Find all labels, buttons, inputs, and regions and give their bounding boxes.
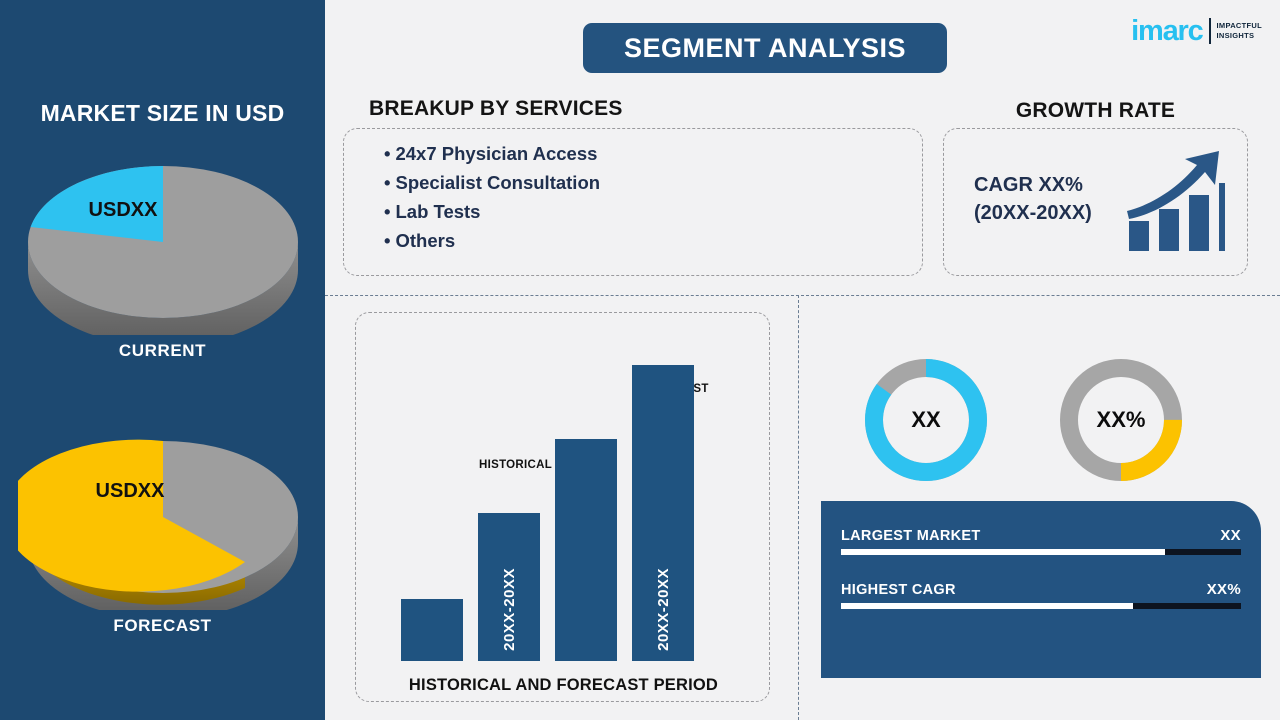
sidebar-title: MARKET SIZE IN USD <box>0 100 325 127</box>
chart-bar-label: 20XX-20XX <box>655 568 672 651</box>
stat-value: XX% <box>1207 581 1241 598</box>
key-stats-panel: LARGEST MARKET XX HIGHEST CAGR XX% <box>821 501 1261 678</box>
chart-bar: 20XX-20XX <box>632 365 694 661</box>
pie-current-svg: USDXX <box>18 150 308 335</box>
horizontal-divider <box>325 295 1280 296</box>
logo-tagline: IMPACTFUL INSIGHTS <box>1217 21 1262 41</box>
pie-current-slice-label: USDXX <box>88 199 158 221</box>
chart-bar <box>401 599 463 661</box>
page-title-badge: SEGMENT ANALYSIS <box>583 23 947 73</box>
cagr-text: CAGR XX% (20XX-20XX) <box>974 171 1092 227</box>
stat-label: HIGHEST CAGR <box>841 582 956 598</box>
chart-bar <box>555 439 617 661</box>
stat-progress-track <box>841 603 1241 609</box>
historical-forecast-chart: HISTORICAL 20XX-20XX FORECAST 20XX-20XX … <box>355 312 770 702</box>
growth-arrow-bars-icon <box>1115 145 1227 257</box>
list-item: •Others <box>384 226 600 255</box>
cagr-value: CAGR XX% <box>974 171 1092 199</box>
bullet-icon: • <box>384 201 390 222</box>
chart-bar: 20XX-20XX <box>478 513 540 661</box>
list-item: •Specialist Consultation <box>384 168 600 197</box>
infographic-root: MARKET SIZE IN USD USDXX CURRENT <box>0 0 1280 720</box>
logo-tagline-line1: IMPACTFUL <box>1217 21 1262 31</box>
stat-highest-cagr: HIGHEST CAGR XX% <box>841 581 1241 609</box>
chart-plot-area: HISTORICAL 20XX-20XX FORECAST 20XX-20XX … <box>356 313 771 703</box>
pie-forecast-caption: FORECAST <box>0 616 325 636</box>
service-label: 24x7 Physician Access <box>395 143 597 164</box>
logo-tagline-line2: INSIGHTS <box>1217 31 1262 41</box>
list-item: •Lab Tests <box>384 197 600 226</box>
donut-right-label: XX% <box>1056 355 1186 485</box>
bullet-icon: • <box>384 143 390 164</box>
page-title: SEGMENT ANALYSIS <box>624 33 906 64</box>
stat-progress-track <box>841 549 1241 555</box>
imarc-logo: imarc IMPACTFUL INSIGHTS <box>1131 10 1262 52</box>
services-list: •24x7 Physician Access •Specialist Consu… <box>384 139 600 255</box>
stat-progress-fill <box>841 549 1165 555</box>
stat-value: XX <box>1220 527 1241 544</box>
imarc-logo-text: imarc <box>1131 15 1202 47</box>
service-label: Specialist Consultation <box>395 172 600 193</box>
vertical-divider <box>798 295 799 720</box>
pie-forecast-slice-label: USDXX <box>95 480 165 502</box>
services-heading: BREAKUP BY SERVICES <box>369 97 623 121</box>
list-item: •24x7 Physician Access <box>384 139 600 168</box>
bullet-icon: • <box>384 230 390 251</box>
donut-left-label: XX <box>861 355 991 485</box>
main-panel: SEGMENT ANALYSIS imarc IMPACTFUL INSIGHT… <box>325 0 1280 720</box>
imarc-logo-mark: imarc <box>1131 17 1202 46</box>
sidebar-market-size: MARKET SIZE IN USD USDXX CURRENT <box>0 0 325 720</box>
stat-label: LARGEST MARKET <box>841 528 981 544</box>
growth-rate-box: CAGR XX% (20XX-20XX) <box>943 128 1248 276</box>
chart-bar-label: 20XX-20XX <box>501 568 518 651</box>
pie-chart-forecast: USDXX FORECAST <box>0 425 325 636</box>
chart-annotation-historical: HISTORICAL <box>479 459 552 471</box>
stat-progress-fill <box>841 603 1133 609</box>
services-box: •24x7 Physician Access •Specialist Consu… <box>343 128 923 276</box>
pie-chart-current: USDXX CURRENT <box>0 150 325 361</box>
logo-divider <box>1209 18 1211 44</box>
cagr-period: (20XX-20XX) <box>974 199 1092 227</box>
growth-rate-heading: GROWTH RATE <box>943 99 1248 123</box>
stat-largest-market: LARGEST MARKET XX <box>841 527 1241 555</box>
pie-forecast-svg: USDXX <box>18 425 308 610</box>
chart-x-axis-label: HISTORICAL AND FORECAST PERIOD <box>356 676 771 695</box>
donut-chart-left: XX <box>861 355 991 490</box>
pie-current-caption: CURRENT <box>0 341 325 361</box>
donut-chart-right: XX% <box>1056 355 1186 490</box>
service-label: Others <box>395 230 455 251</box>
bullet-icon: • <box>384 172 390 193</box>
service-label: Lab Tests <box>395 201 480 222</box>
